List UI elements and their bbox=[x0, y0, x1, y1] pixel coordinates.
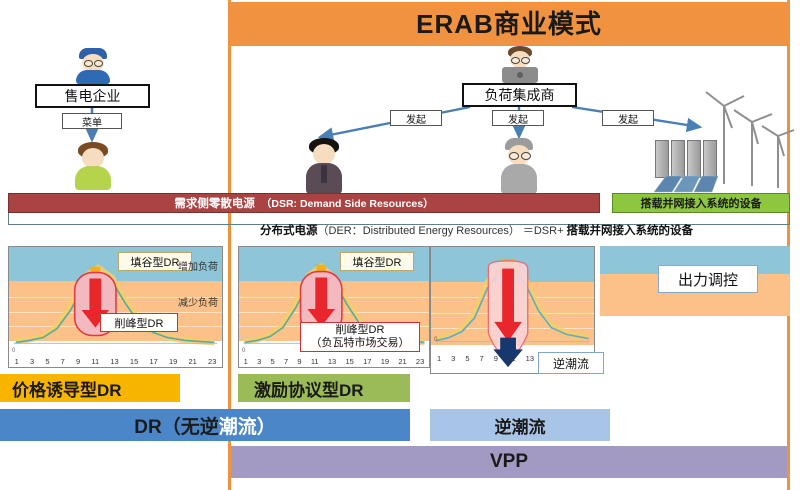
initiate-label-3: 发起 bbox=[618, 111, 638, 126]
callout-fill-dr-2: 填谷型DR bbox=[340, 252, 414, 271]
engineer-avatar-icon bbox=[498, 138, 540, 194]
initiate-box-2[interactable]: 发起 bbox=[492, 110, 544, 126]
consumer-avatar-icon bbox=[72, 142, 114, 190]
y-axis-zero-panel2: 0 bbox=[242, 348, 245, 354]
callout-peak-dr-2-line2: （负瓦特市场交易） bbox=[311, 337, 410, 350]
label-decrease-load: 减少负荷 bbox=[178, 294, 238, 308]
wind-turbine-icon bbox=[700, 88, 796, 190]
page-title: ERAB商业模式 bbox=[228, 2, 790, 46]
laptop-user-avatar-icon bbox=[498, 46, 542, 84]
x-axis-labels-panel2: 1357911 131517192123 bbox=[239, 357, 429, 366]
initiate-label-1: 发起 bbox=[406, 111, 426, 126]
dsr-bar: 需求侧零散电源 （DSR: Demand Side Resources） bbox=[8, 193, 600, 213]
grid-connected-device-label: 搭载并网接入系统的设备 bbox=[641, 195, 762, 211]
callout-fill-dr-1-label: 填谷型DR bbox=[131, 254, 180, 270]
der-label-cn: 分布式电源 bbox=[260, 222, 318, 238]
dsr-label-cn: 需求侧零散电源 bbox=[174, 195, 255, 211]
y-axis-zero-panel3: 0 bbox=[434, 337, 437, 343]
initiate-box-1[interactable]: 发起 bbox=[390, 110, 442, 126]
label-decrease-load-text: 减少负荷 bbox=[178, 294, 218, 309]
menu-box[interactable]: 菜单 bbox=[62, 113, 122, 129]
sales-enterprise-label: 售电企业 bbox=[65, 86, 121, 106]
callout-reverse-flow: 逆潮流 bbox=[538, 352, 604, 374]
legend-bar-reverse-flow-label: 逆潮流 bbox=[495, 413, 546, 438]
worker-avatar-icon bbox=[72, 48, 114, 80]
legend-bar-vpp: VPP bbox=[231, 446, 787, 478]
initiate-label-2: 发起 bbox=[508, 111, 528, 126]
output-control-box[interactable]: 出力调控 bbox=[658, 265, 758, 293]
sales-enterprise-box[interactable]: 售电企业 bbox=[35, 84, 150, 108]
load-aggregator-box[interactable]: 负荷集成商 bbox=[462, 83, 577, 107]
der-equals: ＝DSR+ bbox=[523, 222, 564, 238]
legend-bar-vpp-label: VPP bbox=[490, 451, 528, 473]
label-increase-load-text: 增加负荷 bbox=[178, 258, 218, 273]
output-control-label: 出力调控 bbox=[678, 269, 738, 290]
callout-peak-dr-2-line1: 削峰型DR bbox=[336, 324, 385, 337]
initiate-box-3[interactable]: 发起 bbox=[602, 110, 654, 126]
legend-bar-dr-left: DR（无逆 bbox=[134, 412, 218, 439]
legend-bar-incentive-dr: 激励协议型DR bbox=[238, 374, 410, 402]
legend-bar-price-dr-label: 价格诱导型DR bbox=[12, 376, 122, 401]
page-title-bar: ERAB商业模式 bbox=[228, 2, 790, 46]
legend-bar-reverse-flow: 逆潮流 bbox=[430, 409, 610, 441]
der-definition: 分布式电源 （DER：Distributed Energy Resources）… bbox=[260, 222, 790, 238]
der-tail: 搭载并网接入系统的设备 bbox=[567, 222, 694, 238]
load-aggregator-label: 负荷集成商 bbox=[485, 85, 555, 105]
legend-bar-dr-right: 潮流） bbox=[219, 412, 276, 439]
callout-peak-dr-1: 削峰型DR bbox=[100, 313, 178, 332]
dsr-label-en: （DSR: Demand Side Resources） bbox=[261, 196, 434, 211]
callout-peak-dr-2: 削峰型DR （负瓦特市场交易） bbox=[300, 322, 420, 352]
der-label-en: （DER：Distributed Energy Resources） bbox=[318, 222, 520, 238]
menu-label: 菜单 bbox=[82, 114, 102, 129]
callout-reverse-flow-label: 逆潮流 bbox=[553, 355, 589, 372]
callout-peak-dr-1-label: 削峰型DR bbox=[115, 315, 164, 331]
grid-connected-device-bar: 搭载并网接入系统的设备 bbox=[612, 193, 790, 213]
label-increase-load: 增加负荷 bbox=[178, 258, 238, 272]
legend-bar-price-dr: 价格诱导型DR bbox=[0, 374, 180, 402]
legend-bar-incentive-dr-label: 激励协议型DR bbox=[254, 376, 364, 401]
legend-bar-dr-no-reverse: DR（无逆 潮流） bbox=[0, 409, 410, 441]
businessman-avatar-icon bbox=[303, 138, 345, 194]
callout-fill-dr-2-label: 填谷型DR bbox=[353, 254, 402, 270]
x-axis-labels-panel1: 1357911 131517192123 bbox=[9, 357, 222, 366]
y-axis-zero-panel1: 0 bbox=[12, 348, 15, 354]
